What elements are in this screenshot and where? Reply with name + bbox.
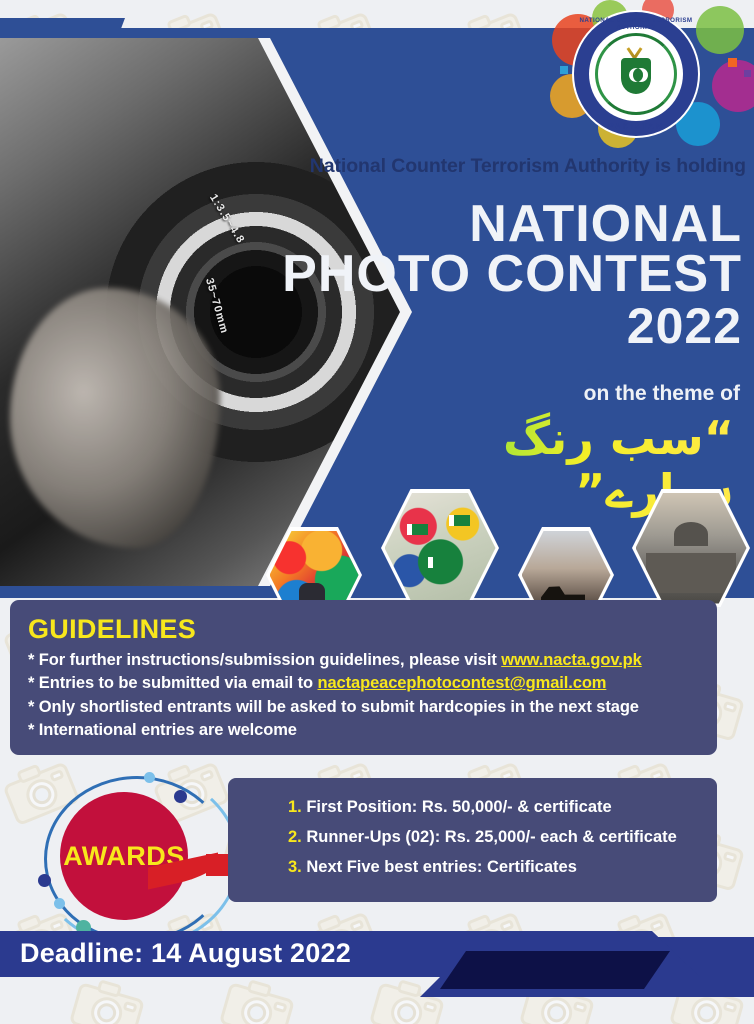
- awards-panel: 1. First Position: Rs. 50,000/- & certif…: [228, 778, 717, 902]
- nacta-logo: NATIONAL COUNTER TERRORISM AUTHORITY PAK…: [574, 12, 698, 136]
- award-item-number: 1.: [288, 798, 302, 816]
- decor-dot: [144, 772, 155, 783]
- flag-icon: [449, 515, 470, 526]
- title-line-year: 2022: [202, 302, 742, 350]
- logo-ring-text-bottom: PAKISTAN: [574, 122, 698, 131]
- hex-thumb-flag-crowd-image: [385, 493, 496, 604]
- hex-thumb-heritage-monument-image: [636, 493, 747, 604]
- title-line-national: NATIONAL: [202, 200, 742, 250]
- monument-dome: [674, 522, 708, 546]
- decor-dot: [174, 790, 187, 803]
- decor-dot: [54, 898, 65, 909]
- theme-lead-text: on the theme of: [340, 382, 740, 406]
- guidelines-heading: GUIDELINES: [28, 614, 699, 645]
- crescent-star-icon: [629, 68, 643, 82]
- decor-dot: [38, 874, 51, 887]
- guidelines-list: * For further instructions/submission gu…: [28, 649, 699, 743]
- guideline-item: * For further instructions/submission gu…: [28, 649, 699, 672]
- page-title: NATIONAL PHOTO CONTEST 2022: [202, 200, 742, 350]
- guideline-item: * Only shortlisted entrants will be aske…: [28, 696, 699, 719]
- title-line-photo-contest: PHOTO CONTEST: [202, 250, 742, 300]
- guideline-link[interactable]: nactapeacephotocontest@gmail.com: [318, 674, 607, 692]
- award-item: 1. First Position: Rs. 50,000/- & certif…: [288, 792, 707, 822]
- tagline: National Counter Terrorism Authority is …: [300, 155, 746, 178]
- logo-ring-text-top: NATIONAL COUNTER TERRORISM AUTHORITY: [574, 17, 698, 31]
- awards-list: 1. First Position: Rs. 50,000/- & certif…: [228, 792, 717, 882]
- monument-wall: [646, 553, 736, 593]
- guideline-item: * International entries are welcome: [28, 719, 699, 742]
- guideline-item: * Entries to be submitted via email to n…: [28, 672, 699, 695]
- award-item-number: 2.: [288, 828, 302, 846]
- flag-icon: [428, 557, 449, 568]
- poster-canvas: NATIONAL PHOTO CONTEST 2022 NACTA 1:3.5~…: [0, 0, 754, 1024]
- deadline-ribbon-shadow: [440, 951, 670, 989]
- deadline-text: Deadline: 14 August 2022: [20, 938, 351, 969]
- guidelines-panel: GUIDELINES * For further instructions/su…: [10, 600, 717, 755]
- guideline-link[interactable]: www.nacta.gov.pk: [501, 651, 642, 669]
- flag-icon: [407, 524, 428, 535]
- award-item: 2. Runner-Ups (02): Rs. 25,000/- each & …: [288, 822, 707, 852]
- award-item: 3. Next Five best entries: Certificates: [288, 852, 707, 882]
- photographer-hand: [10, 288, 220, 548]
- award-item-number: 3.: [288, 858, 302, 876]
